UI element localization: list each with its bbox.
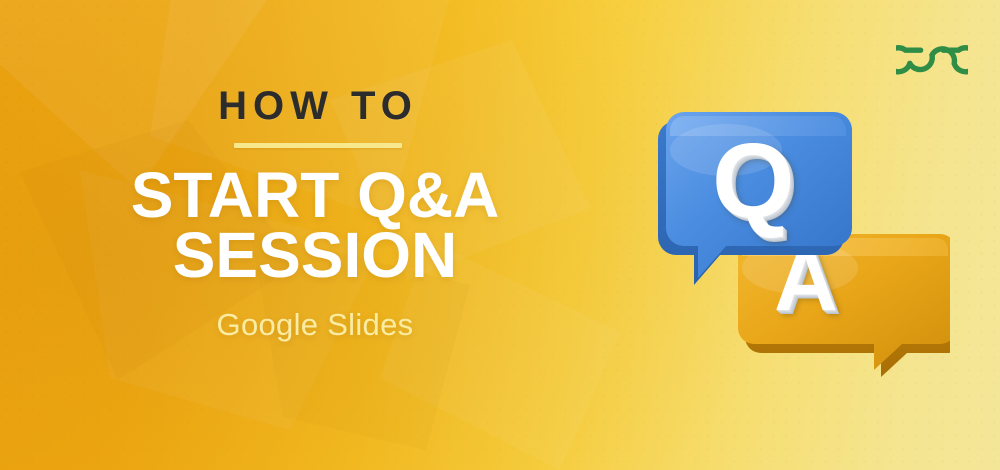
divider-rule	[234, 143, 402, 148]
subtitle-text: Google Slides	[0, 307, 630, 343]
bubble-q: Q	[658, 102, 858, 297]
headline-line-2: SESSION	[0, 226, 630, 286]
qa-illustration: A	[630, 80, 970, 400]
banner-canvas: HOW TO START Q&A SESSION Google Slides	[0, 0, 1000, 470]
page-title: START Q&A SESSION	[0, 166, 630, 285]
headline-block: HOW TO START Q&A SESSION Google Slides	[0, 86, 630, 343]
bubble-letter-q: Q	[712, 128, 794, 234]
eyebrow-text: HOW TO	[6, 86, 630, 126]
geeksforgeeks-logo-icon	[896, 33, 968, 77]
